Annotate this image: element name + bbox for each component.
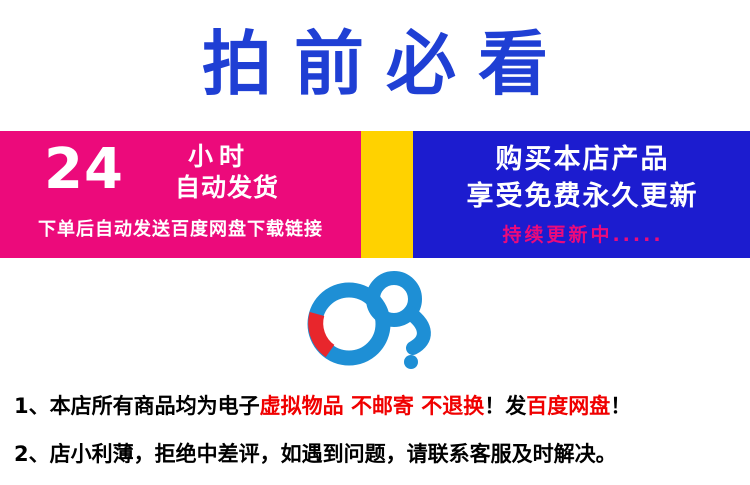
note-line-1: 1、本店所有商品均为电子虚拟物品 不邮寄 不退换！发百度网盘！ <box>14 390 744 420</box>
note-1-no-shipping: 不邮寄 <box>351 394 414 418</box>
note-1-no-return: 不退换 <box>421 394 484 418</box>
hours-number: 24 <box>44 139 124 201</box>
shipping-panel: 24 小时 自动发货 下单后自动发送百度网盘下载链接 <box>0 131 361 258</box>
note-1-netdisk: 百度网盘 <box>526 394 610 418</box>
auto-ship-label: 自动发货 <box>175 172 325 203</box>
hours-unit-label: 小时 <box>175 141 325 172</box>
baidu-netdisk-logo <box>297 266 457 372</box>
logo-area <box>0 258 750 380</box>
note-1-gap1 <box>344 394 351 418</box>
page-title: 拍前必看 <box>0 20 750 108</box>
shipping-headline: 24 小时 自动发货 <box>0 137 361 207</box>
note-1-virtual-goods: 虚拟物品 <box>260 394 344 418</box>
note-1-seg1: 本店所有商品均为电子 <box>50 394 260 418</box>
shipping-subtitle: 下单后自动发送百度网盘下载链接 <box>0 215 361 241</box>
notes-area: 1、本店所有商品均为电子虚拟物品 不邮寄 不退换！发百度网盘！ 2、店小利薄，拒… <box>0 380 750 485</box>
promo-banner: 拍前必看 24 小时 自动发货 下单后自动发送百度网盘下载链接 购买本店产品 享… <box>0 0 750 485</box>
hours-text-stack: 小时 自动发货 <box>175 141 325 203</box>
update-line-2: 享受免费永久更新 <box>413 180 750 214</box>
update-line-3: 持续更新中..... <box>413 223 750 247</box>
yellow-divider <box>361 131 413 258</box>
note-1-seg7: ！发 <box>484 394 526 418</box>
note-1-number: 1、 <box>14 394 50 418</box>
title-area: 拍前必看 <box>0 0 750 131</box>
note-line-2: 2、店小利薄，拒绝中差评，如遇到问题，请联系客服及时解决。 <box>14 438 744 468</box>
note-1-seg9: ！ <box>610 394 631 418</box>
update-line-1: 购买本店产品 <box>413 143 750 177</box>
note-2-text: 店小利薄，拒绝中差评，如遇到问题，请联系客服及时解决。 <box>50 442 617 466</box>
update-panel: 购买本店产品 享受免费永久更新 持续更新中..... <box>413 131 750 258</box>
note-2-number: 2、 <box>14 442 50 466</box>
